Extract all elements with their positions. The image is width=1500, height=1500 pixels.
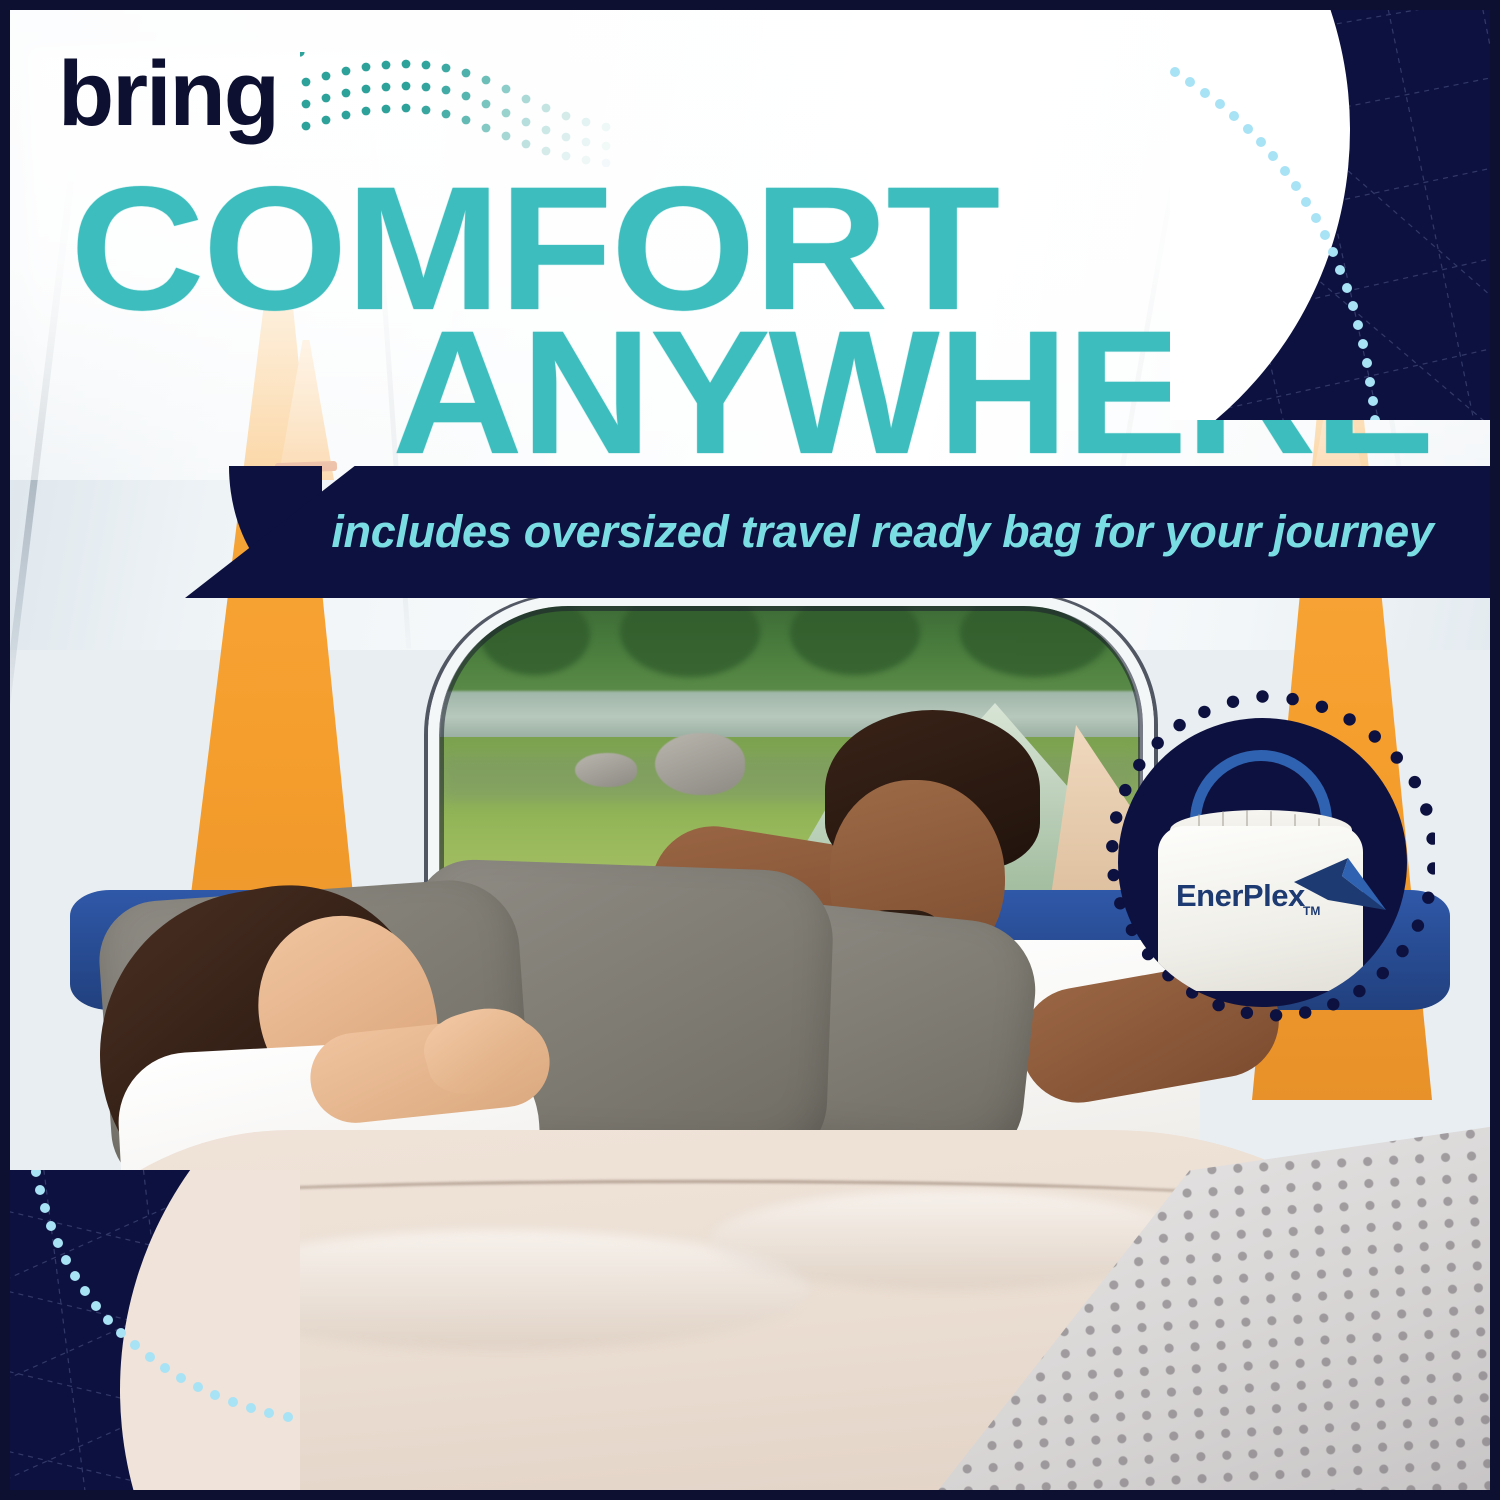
- enerplex-logo-text: EnerPlex: [1176, 878, 1305, 914]
- rock-large: [655, 733, 745, 795]
- badge-navy-circle: EnerPlex TM: [1118, 718, 1407, 1007]
- corner-decoration-bottom-left: [0, 1170, 300, 1500]
- kicker-text: bring: [58, 48, 278, 140]
- banner-subtitle-text: includes oversized travel ready bag for …: [300, 466, 1465, 598]
- rock-small: [575, 753, 637, 787]
- travel-bag-badge: EnerPlex TM: [1090, 690, 1435, 1035]
- corner-dotted-arc: [0, 1170, 300, 1500]
- corner-dotted-arc: [1170, 0, 1500, 420]
- product-marketing-image: bring: [0, 0, 1500, 1500]
- enerplex-swoosh-icon: [1290, 856, 1390, 918]
- corner-decoration-top-right: [1170, 0, 1500, 420]
- lake: [440, 691, 1140, 743]
